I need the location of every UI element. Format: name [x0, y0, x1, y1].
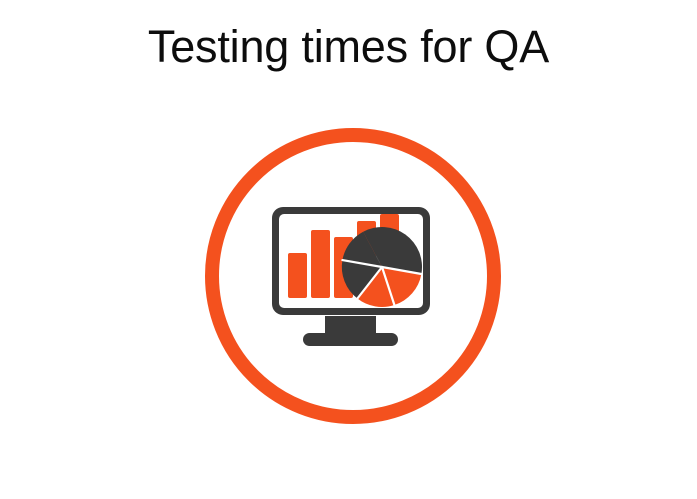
- monitor-stand-neck: [325, 316, 376, 337]
- bar-1: [288, 253, 307, 298]
- badge-svg: [203, 126, 503, 426]
- analytics-dashboard-badge: [203, 126, 503, 426]
- pie-chart-group: [342, 227, 422, 307]
- bar-2: [311, 230, 330, 298]
- page-title: Testing times for QA: [0, 22, 697, 72]
- slide-canvas: Testing times for QA: [0, 0, 697, 499]
